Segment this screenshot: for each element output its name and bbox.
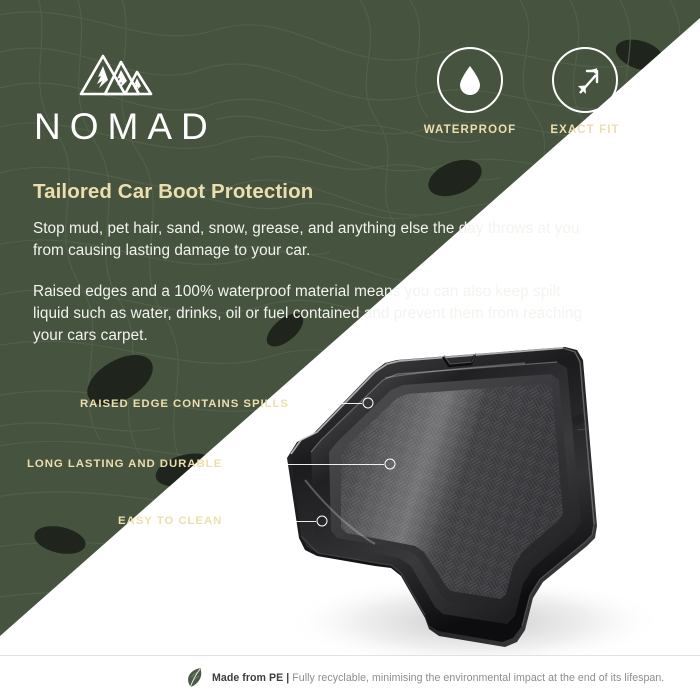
callout-label-easy-clean: EASY TO CLEAN (118, 515, 222, 527)
footer-text: Made from PE | Fully recyclable, minimis… (212, 672, 664, 684)
footer-content: Made from PE | Fully recyclable, minimis… (186, 667, 664, 690)
footer-text-rest: Fully recyclable, minimising the environ… (289, 672, 664, 684)
callout-line-easy-clean (221, 521, 316, 522)
callout-line-durable (232, 464, 384, 465)
infographic-canvas: NOMAD WATERPROOF EXACT (0, 0, 700, 700)
callout-label-durable: LONG LASTING AND DURABLE (27, 458, 222, 470)
leaf-icon (186, 667, 203, 690)
callout-dot-raised-edge (363, 398, 374, 409)
callout-label-raised-edge: RAISED EDGE CONTAINS SPILLS (80, 398, 289, 410)
footer-text-strong: Made from PE | (212, 672, 289, 684)
callout-dot-easy-clean (317, 516, 328, 527)
callout-dot-durable (385, 459, 396, 470)
callout-group: RAISED EDGE CONTAINS SPILLS LONG LASTING… (0, 0, 700, 700)
callout-line-raised-edge (296, 403, 362, 404)
footer-bar: Made from PE | Fully recyclable, minimis… (0, 655, 700, 700)
